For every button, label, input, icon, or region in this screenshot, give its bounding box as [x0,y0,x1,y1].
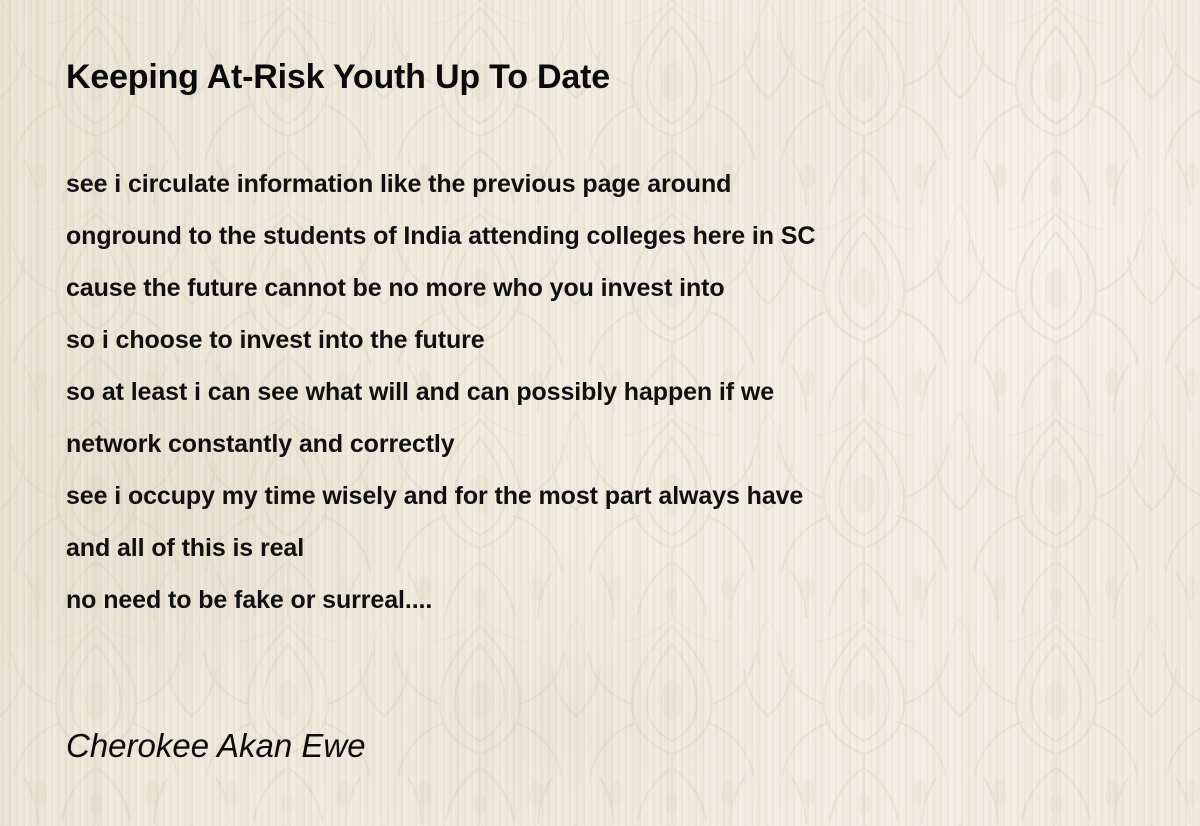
poem-body: see i circulate information like the pre… [66,158,1136,626]
poem-line: see i circulate information like the pre… [66,158,1136,210]
poem-line: so at least i can see what will and can … [66,366,1136,418]
poem-author: Cherokee Akan Ewe [66,726,366,766]
poem-content: Keeping At-Risk Youth Up To Date see i c… [0,0,1200,826]
poem-line: no need to be fake or surreal.... [66,574,1136,626]
poem-card: Keeping At-Risk Youth Up To Date see i c… [0,0,1200,826]
poem-line: and all of this is real [66,522,1136,574]
poem-line: so i choose to invest into the future [66,314,1136,366]
poem-title: Keeping At-Risk Youth Up To Date [66,57,610,97]
poem-line: cause the future cannot be no more who y… [66,262,1136,314]
poem-line: network constantly and correctly [66,418,1136,470]
poem-line: see i occupy my time wisely and for the … [66,470,1136,522]
poem-line: onground to the students of India attend… [66,210,1136,262]
